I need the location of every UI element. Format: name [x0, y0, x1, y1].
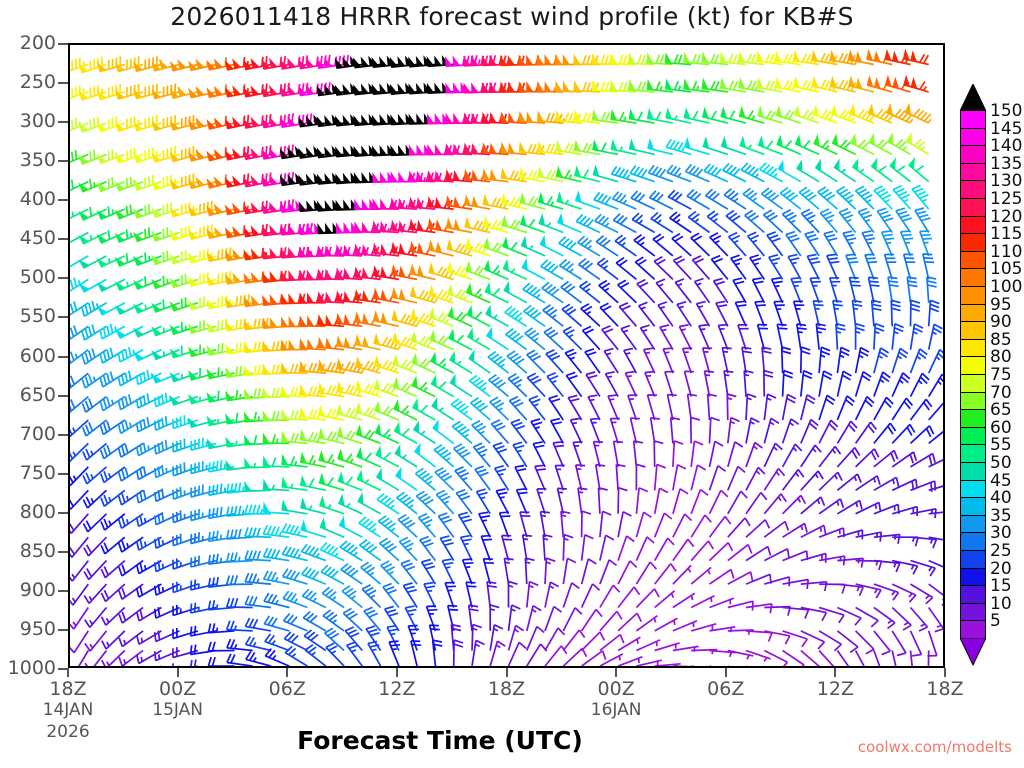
- wind-barb: [778, 161, 801, 182]
- wind-barb: [911, 426, 934, 444]
- wind-barb: [869, 277, 880, 302]
- wind-barb: [890, 159, 911, 182]
- wind-barb: [485, 283, 508, 303]
- wind-barb: [487, 582, 497, 608]
- wind-barb: [85, 631, 107, 651]
- x-tick-date: 15JAN: [152, 700, 203, 720]
- wind-barb: [679, 325, 691, 350]
- wind-barb: [691, 441, 703, 467]
- wind-barb: [819, 584, 845, 593]
- wind-barb: [637, 280, 655, 303]
- wind-barb: [874, 372, 890, 397]
- wind-barb: [615, 235, 636, 256]
- x-tick-mark: [396, 668, 398, 677]
- wind-barb: [563, 608, 582, 631]
- wind-barb: [322, 587, 344, 607]
- x-tick-mark: [944, 668, 946, 677]
- y-tick-mark: [58, 43, 68, 45]
- wind-barb: [674, 256, 692, 279]
- wind-barb: [434, 445, 454, 467]
- wind-barb: [433, 640, 443, 666]
- wind-barb: [707, 211, 728, 232]
- wind-barb: [387, 626, 399, 651]
- wind-barb: [783, 631, 808, 647]
- wind-barb: [472, 421, 490, 444]
- y-tick-mark: [58, 82, 68, 84]
- wind-barb: [493, 443, 508, 467]
- y-tick-label: 550: [20, 305, 56, 327]
- wind-barb: [394, 401, 417, 421]
- colorbar-swatch: [960, 374, 986, 393]
- wind-barb: [585, 349, 600, 373]
- wind-barb: [726, 211, 746, 233]
- wind-barb: [892, 324, 903, 350]
- wind-barb: [645, 372, 655, 397]
- wind-barb: [602, 326, 618, 350]
- colorbar-swatch: [960, 286, 986, 305]
- wind-barb: [764, 418, 779, 443]
- wind-barb: [710, 441, 724, 467]
- wind-barb: [594, 442, 603, 467]
- wind-barb: [769, 255, 783, 280]
- y-tick-label: 1000: [8, 657, 56, 679]
- wind-barb: [832, 135, 855, 155]
- wind-barb: [849, 278, 860, 303]
- wind-barb: [440, 536, 453, 561]
- wind-barb: [450, 375, 472, 397]
- y-tick-label: 450: [20, 227, 56, 249]
- wind-barb: [541, 512, 550, 538]
- wind-barb: [856, 348, 869, 374]
- wind-barb: [432, 398, 454, 420]
- wind-barb: [401, 560, 417, 584]
- colorbar-swatch: [960, 444, 986, 463]
- wind-barb: [728, 418, 740, 444]
- wind-barb: [566, 372, 581, 396]
- wind-barb: [563, 630, 584, 651]
- wind-barb: [596, 465, 605, 491]
- wind-barb: [568, 395, 581, 420]
- wind-barb: [85, 608, 107, 628]
- wind-barb: [403, 583, 417, 608]
- wind-barb: [683, 348, 692, 373]
- wind-barb: [506, 329, 527, 350]
- wind-barb: [905, 104, 931, 123]
- wind-barb: [691, 515, 711, 537]
- wind-barb: [820, 209, 837, 233]
- y-tick-label: 650: [20, 384, 56, 406]
- wind-barb: [837, 584, 863, 596]
- wind-barb: [245, 527, 271, 537]
- wind-barb: [837, 474, 861, 490]
- wind-barb: [636, 512, 651, 537]
- wind-barb: [393, 378, 417, 397]
- wind-barb: [658, 302, 673, 326]
- x-axis-title: Forecast Time (UTC): [120, 726, 760, 755]
- wind-barb: [454, 640, 463, 666]
- wind-barb: [728, 442, 743, 467]
- wind-barb: [613, 214, 636, 233]
- wind-barb: [907, 277, 917, 303]
- wind-barb: [651, 418, 660, 444]
- wind-barb: [716, 301, 728, 326]
- wind-barb: [527, 582, 538, 608]
- wind-barb: [582, 535, 594, 561]
- plot-area: [68, 43, 945, 668]
- colorbar-swatch: [960, 550, 986, 569]
- wind-barb: [742, 347, 752, 373]
- wind-barb: [874, 324, 884, 350]
- wind-barb: [797, 324, 807, 350]
- wind-barb: [380, 538, 399, 560]
- wind-barb: [691, 490, 708, 514]
- wind-barb: [515, 466, 527, 491]
- wind-barb: [783, 608, 809, 619]
- wind-barb: [654, 257, 673, 280]
- wind-barb: [527, 627, 544, 651]
- wind-barb: [636, 488, 647, 514]
- wind-barb: [522, 259, 545, 279]
- wind-barb: [641, 325, 655, 350]
- wind-barb: [70, 561, 88, 582]
- x-tick-mark: [177, 668, 179, 677]
- colorbar-swatch: [960, 233, 986, 252]
- wind-barb: [672, 234, 691, 256]
- wind-barb: [819, 420, 838, 443]
- wind-barb: [611, 419, 620, 444]
- wind-barb: [523, 283, 545, 303]
- wind-barb: [618, 512, 631, 538]
- wind-barb: [871, 159, 892, 182]
- wind-barb: [531, 419, 545, 443]
- wind-barb: [376, 447, 399, 467]
- wind-barb: [619, 303, 636, 327]
- x-tick-label: 00Z: [598, 678, 635, 700]
- wind-barb: [517, 489, 528, 514]
- wind-barb: [727, 394, 736, 420]
- x-tick-date: 16JAN: [591, 700, 642, 720]
- wind-barb: [545, 582, 559, 607]
- wind-barb: [155, 607, 180, 618]
- wind-barb: [904, 76, 929, 92]
- wind-barb: [454, 444, 472, 467]
- wind-barb: [509, 397, 526, 420]
- wind-barb: [537, 489, 546, 514]
- wind-barb: [750, 255, 765, 279]
- wind-barb: [527, 373, 545, 396]
- wind-barb: [764, 469, 784, 491]
- y-tick-mark: [58, 629, 68, 631]
- wind-barb: [929, 584, 945, 605]
- colorbar-swatch: [960, 515, 986, 534]
- wind-barb: [70, 514, 88, 534]
- wind-barb: [856, 561, 882, 570]
- wind-barb: [846, 254, 858, 279]
- colorbar-swatch: [960, 392, 986, 411]
- wind-barb: [816, 160, 838, 182]
- wind-barb: [472, 640, 485, 666]
- wind-barb: [758, 325, 768, 350]
- wind-barb: [888, 277, 899, 303]
- wind-barb: [543, 535, 552, 561]
- wind-barb: [743, 188, 764, 209]
- x-tick-mark: [725, 668, 727, 677]
- wind-barb: [398, 515, 417, 538]
- wind-barb: [731, 255, 746, 279]
- wind-barb: [874, 584, 899, 600]
- wind-barb: [746, 394, 756, 420]
- wind-barb: [892, 507, 917, 516]
- wind-barb: [582, 632, 605, 650]
- wind-barb: [357, 448, 381, 467]
- wind-barb: [383, 584, 399, 608]
- wind-barb: [655, 464, 666, 490]
- wind-barb: [302, 567, 326, 584]
- wind-barb: [582, 584, 600, 608]
- wind-barb: [326, 643, 344, 666]
- wind-barb: [873, 651, 882, 669]
- wind-barb: [547, 373, 563, 397]
- wind-barb: [818, 187, 838, 209]
- wind-barb: [451, 399, 472, 420]
- wind-barb: [618, 561, 637, 584]
- wind-barb: [563, 327, 581, 350]
- wind-barb: [455, 467, 472, 491]
- wind-barb: [449, 330, 472, 350]
- wind-barb: [801, 347, 810, 373]
- wind-barb: [563, 583, 579, 608]
- wind-barb: [783, 651, 805, 669]
- wind-barb: [342, 586, 362, 608]
- colorbar-swatch: [960, 304, 986, 323]
- wind-barb: [728, 466, 745, 490]
- y-tick-mark: [58, 512, 68, 514]
- wind-barb: [764, 494, 786, 514]
- x-tick-mark: [506, 668, 508, 677]
- wind-barb: [208, 657, 234, 666]
- wind-barb: [911, 399, 932, 420]
- wind-barb: [578, 236, 600, 256]
- wind-barb: [472, 625, 482, 651]
- y-tick-mark: [58, 238, 68, 240]
- wind-barb: [911, 324, 924, 350]
- wind-barb: [843, 231, 856, 256]
- wind-barb: [882, 231, 895, 256]
- wind-barb: [527, 644, 547, 666]
- y-tick-mark: [58, 590, 68, 592]
- wind-barb: [600, 611, 622, 631]
- wind-barb: [618, 587, 640, 608]
- x-tick-label: 18Z: [488, 678, 525, 700]
- wind-barb: [906, 133, 928, 154]
- wind-barb: [673, 593, 695, 607]
- wind-barb: [710, 543, 733, 561]
- wind-barb: [703, 348, 712, 373]
- y-tick-label: 850: [20, 540, 56, 562]
- wind-barb: [636, 589, 659, 608]
- y-axis: 2002503003504004505005506006507007508008…: [0, 43, 68, 668]
- wind-barb: [484, 559, 494, 584]
- y-tick-label: 900: [20, 579, 56, 601]
- wind-barb: [851, 135, 874, 155]
- wind-barb: [644, 348, 655, 373]
- wind-barb: [877, 208, 893, 232]
- wind-barb: [874, 631, 890, 655]
- wind-barb: [911, 300, 920, 326]
- wind-barb: [544, 327, 563, 349]
- wind-barb: [339, 517, 362, 537]
- wind-barb: [546, 350, 563, 373]
- wind-barb: [155, 537, 180, 548]
- wind-barb: [600, 654, 623, 666]
- wind-barb: [814, 135, 838, 154]
- wind-barb: [710, 233, 728, 256]
- wind-barb: [600, 511, 611, 537]
- wind-barb: [323, 610, 344, 631]
- wind-barb: [783, 395, 796, 421]
- wind-barb: [70, 584, 88, 605]
- wind-barb: [745, 210, 765, 232]
- wind-barb: [673, 489, 688, 514]
- wind-barb: [837, 371, 851, 396]
- wind-barb: [618, 536, 634, 561]
- wind-barb: [688, 212, 709, 233]
- y-tick-mark: [58, 434, 68, 436]
- colorbar-swatch: [960, 110, 986, 129]
- wind-barb: [885, 255, 897, 280]
- wind-barb: [636, 464, 645, 490]
- wind-barb: [673, 441, 683, 467]
- colorbar-swatch: [960, 568, 986, 587]
- y-tick-label: 950: [20, 618, 56, 640]
- wind-barb: [764, 443, 782, 467]
- wind-barb: [616, 464, 625, 490]
- wind-barb: [819, 446, 840, 467]
- wind-barb: [837, 608, 861, 626]
- wind-barb: [582, 609, 603, 631]
- wind-barb: [540, 236, 563, 256]
- wind-barb: [892, 537, 918, 546]
- wind-barb: [412, 377, 435, 397]
- wind-barb: [84, 561, 106, 580]
- wind-barb: [477, 489, 491, 514]
- wind-barb: [320, 519, 344, 538]
- wind-barb: [469, 351, 490, 373]
- y-tick-mark: [58, 395, 68, 397]
- wind-barb: [655, 618, 678, 631]
- wind-barb: [827, 254, 840, 279]
- wind-barb: [746, 442, 762, 467]
- wind-barb: [874, 423, 896, 443]
- wind-barb: [691, 465, 705, 490]
- colorbar-swatch: [960, 180, 986, 199]
- wind-barb: [810, 278, 821, 303]
- wind-barb: [209, 507, 235, 519]
- wind-barb: [576, 215, 600, 233]
- wind-barb: [718, 325, 727, 350]
- wind-barb: [227, 575, 253, 584]
- wind-barb: [729, 233, 746, 256]
- colorbar-swatch: [960, 356, 986, 375]
- wind-barb: [551, 419, 564, 444]
- x-tick-year: 2026: [46, 722, 89, 742]
- wind-barb: [613, 192, 637, 209]
- wind-barb: [872, 300, 882, 326]
- wind-barb: [929, 300, 940, 326]
- wind-barb: [576, 465, 585, 490]
- wind-barb: [714, 278, 728, 302]
- wind-barb: [302, 589, 325, 607]
- wind-barb: [561, 511, 570, 537]
- wind-barb: [594, 192, 618, 209]
- wind-barb: [791, 278, 802, 303]
- wind-barb: [632, 213, 655, 232]
- wind-barb: [911, 349, 928, 373]
- wind-barb: [523, 535, 532, 561]
- wind-barb: [529, 396, 545, 420]
- wind-barb: [650, 191, 673, 209]
- wind-barb: [504, 282, 527, 303]
- wind-barb: [801, 445, 821, 467]
- wind-barb: [375, 424, 399, 443]
- y-tick-label: 700: [20, 423, 56, 445]
- wind-barb: [673, 621, 697, 631]
- wind-barb: [746, 418, 759, 444]
- wind-barb: [430, 331, 454, 350]
- wind-barb: [783, 419, 799, 444]
- y-tick-label: 750: [20, 462, 56, 484]
- wind-barb: [892, 373, 910, 397]
- y-tick-label: 800: [20, 501, 56, 523]
- wind-barb: [600, 560, 617, 584]
- wind-barb: [892, 424, 915, 443]
- wind-barb: [889, 651, 898, 669]
- colorbar-swatch: [960, 427, 986, 446]
- wind-barb: [801, 631, 825, 649]
- wind-barb: [580, 281, 600, 303]
- colorbar-swatch: [960, 198, 986, 217]
- wind-barb: [431, 376, 454, 397]
- wind-barb: [837, 631, 858, 653]
- wind-barb: [728, 491, 747, 514]
- wind-barb: [84, 584, 106, 603]
- wind-barb: [85, 651, 106, 669]
- x-tick-label: 18Z: [926, 678, 963, 700]
- wind-barb: [648, 395, 657, 420]
- wind-barb: [491, 420, 508, 444]
- wind-barb: [772, 278, 783, 303]
- y-tick-mark: [58, 160, 68, 162]
- wind-barb: [856, 422, 877, 443]
- x-tick-label: 06Z: [707, 678, 744, 700]
- wind-barb: [509, 642, 527, 666]
- wind-barb: [819, 395, 835, 420]
- wind-barb: [618, 613, 641, 631]
- wind-barb: [688, 394, 697, 420]
- wind-barb: [783, 495, 806, 513]
- wind-barb: [420, 537, 436, 561]
- colorbar-label: 5: [990, 611, 1001, 631]
- wind-barb: [837, 187, 856, 210]
- y-tick-mark: [58, 551, 68, 553]
- colorbar-swatch: [960, 163, 986, 182]
- wind-barb: [824, 231, 837, 256]
- wind-barb: [470, 375, 491, 396]
- wind-barb: [862, 231, 875, 256]
- wind-barb: [555, 465, 564, 490]
- wind-barb: [691, 417, 700, 443]
- wind-barb: [433, 421, 454, 444]
